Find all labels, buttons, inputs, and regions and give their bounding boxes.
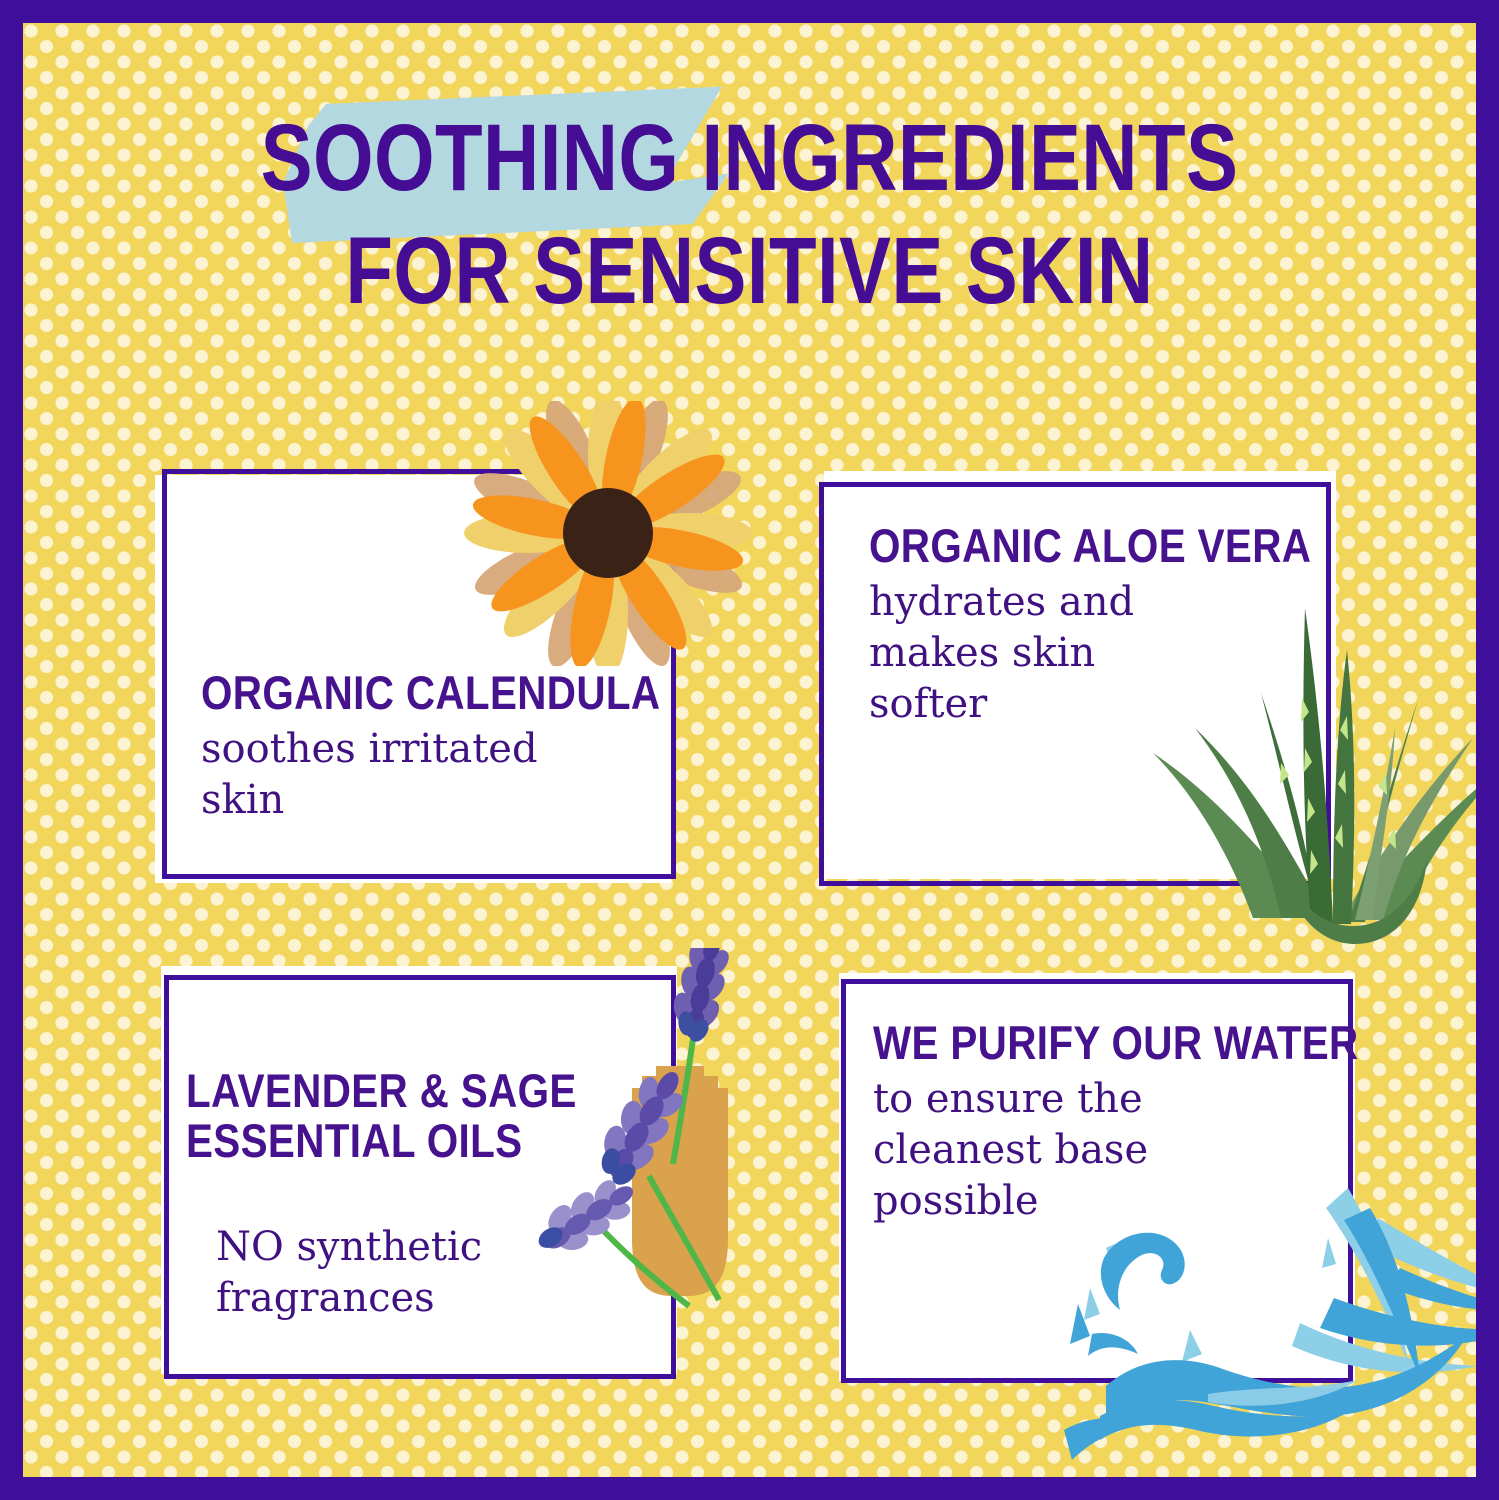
calendula-flower-icon	[463, 401, 753, 666]
card-water-heading: WE PURIFY OUR WATER	[873, 1018, 1277, 1068]
card-aloe-heading: ORGANIC ALOE VERA	[869, 521, 1247, 571]
polka-dot-background: SOOTHING INGREDIENTS FOR SENSITIVE SKIN …	[23, 23, 1476, 1477]
aloe-vera-plant-icon	[1133, 588, 1476, 948]
infographic-poster: SOOTHING INGREDIENTS FOR SENSITIVE SKIN …	[0, 0, 1499, 1500]
card-calendula-body: soothes irritated skin	[201, 724, 671, 826]
card-calendula-heading: ORGANIC CALENDULA	[201, 668, 605, 718]
water-splash-icon	[1048, 1148, 1476, 1477]
card-calendula-text: ORGANIC CALENDULA soothes irritated skin	[201, 668, 671, 826]
title-line-2: FOR SENSITIVE SKIN	[154, 224, 1345, 319]
lavender-and-oil-bottle-icon	[501, 948, 766, 1358]
poster-title-block: SOOTHING INGREDIENTS FOR SENSITIVE SKIN	[23, 85, 1476, 319]
title-line-1: SOOTHING INGREDIENTS	[154, 111, 1345, 206]
